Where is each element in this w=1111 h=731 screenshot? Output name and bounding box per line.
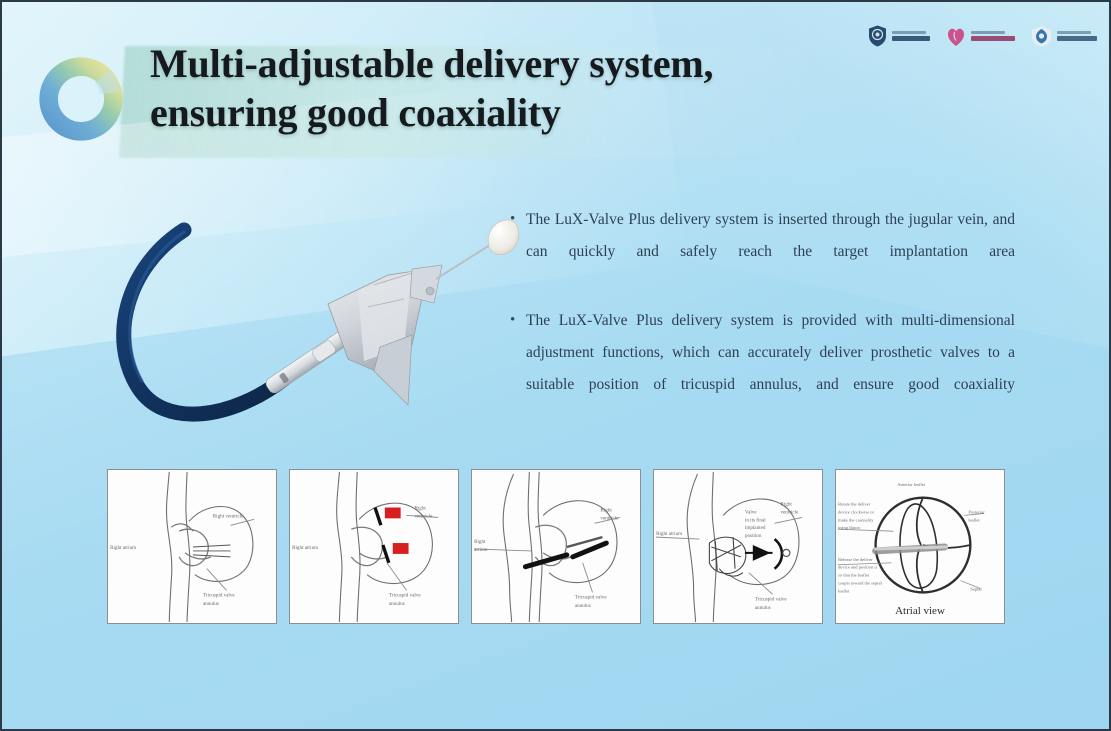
svg-text:device and position it: device and position it	[838, 565, 878, 570]
svg-text:leaflet: leaflet	[968, 517, 980, 522]
logo-wordmark	[1057, 31, 1097, 41]
svg-text:Right: Right	[600, 507, 612, 513]
svg-text:so that the leaflet: so that the leaflet	[838, 573, 870, 578]
step-1-access: Right ventricle Right atrium Tricuspid v…	[107, 469, 277, 624]
presentation-slide: Multi-adjustable delivery system, ensuri…	[0, 0, 1111, 731]
panel-caption: Atrial view	[836, 605, 1004, 617]
bullet-text: The LuX-Valve Plus delivery system is in…	[526, 204, 1015, 301]
svg-text:Right ventricle: Right ventricle	[213, 513, 244, 519]
svg-text:Septal: Septal	[970, 586, 982, 591]
fuwai-hospital-logo	[946, 25, 1015, 47]
logo-wordmark	[971, 31, 1015, 41]
svg-text:ventricle: ventricle	[600, 515, 619, 521]
step-5-atrial-view: Anterior leaflet Rotate the deliver devi…	[835, 469, 1005, 624]
svg-text:Anterior leaflet: Anterior leaflet	[897, 482, 926, 487]
svg-text:Right: Right	[474, 539, 486, 545]
bullet-text: The LuX-Valve Plus delivery system is pr…	[526, 305, 1015, 434]
crest-icon	[1031, 25, 1052, 47]
bullet-list: • The LuX-Valve Plus delivery system is …	[510, 204, 1015, 438]
title-line-2: ensuring good coaxiality	[150, 89, 910, 138]
svg-text:annulus: annulus	[389, 601, 405, 607]
svg-text:Rotate the deliver: Rotate the deliver	[838, 502, 871, 507]
svg-text:ventricle: ventricle	[780, 509, 799, 515]
svg-text:annulus: annulus	[203, 601, 219, 607]
svg-text:Tricuspid valve: Tricuspid valve	[203, 592, 236, 598]
svg-text:using fluoro: using fluoro	[838, 525, 861, 530]
svg-text:implanted: implanted	[745, 525, 766, 531]
svg-text:ventricle: ventricle	[414, 513, 433, 519]
title-line-1: Multi-adjustable delivery system,	[150, 40, 910, 89]
list-item: • The LuX-Valve Plus delivery system is …	[510, 305, 1015, 434]
svg-text:make the coaxiality: make the coaxiality	[838, 517, 874, 522]
svg-text:device clockwise or: device clockwise or	[838, 509, 874, 514]
procedure-step-panels: Right ventricle Right atrium Tricuspid v…	[107, 469, 1005, 624]
step-3-position: Right ventricle Right atrium Tricuspid v…	[471, 469, 641, 624]
page-title: Multi-adjustable delivery system, ensuri…	[150, 40, 910, 138]
svg-text:in its final: in its final	[745, 516, 766, 523]
svg-text:Right: Right	[414, 505, 426, 511]
svg-text:Right: Right	[780, 502, 792, 508]
svg-text:Right atrium: Right atrium	[656, 531, 682, 537]
svg-text:Release the deliver: Release the deliver	[838, 557, 873, 562]
step-4-release: Right ventricle Right atrium Valve in it…	[653, 469, 823, 624]
svg-text:Right atrium: Right atrium	[110, 545, 136, 551]
svg-text:Posterior: Posterior	[968, 509, 985, 514]
lux-valve-plus-delivery-system-photo	[112, 207, 522, 452]
svg-text:annulus: annulus	[755, 605, 771, 611]
partner-institution-logo	[1031, 25, 1097, 47]
heart-icon	[946, 25, 966, 47]
svg-text:Right atrium: Right atrium	[292, 545, 318, 551]
bullet-marker: •	[510, 305, 526, 336]
gradient-ring-logo	[32, 50, 130, 148]
svg-text:Valve: Valve	[745, 509, 757, 515]
svg-text:Tricuspid valve: Tricuspid valve	[575, 594, 608, 600]
svg-text:atrium: atrium	[474, 547, 487, 553]
list-item: • The LuX-Valve Plus delivery system is …	[510, 204, 1015, 301]
bullet-marker: •	[510, 204, 526, 235]
step-2-anchor-deploy: Right ventricle Right atrium Tricuspid v…	[289, 469, 459, 624]
svg-text:Tricuspid valve: Tricuspid valve	[755, 596, 788, 602]
svg-text:annulus: annulus	[575, 603, 591, 609]
svg-text:coapts toward the septal: coapts toward the septal	[838, 581, 882, 586]
svg-text:Tricuspid valve: Tricuspid valve	[389, 592, 422, 598]
svg-text:position: position	[745, 533, 762, 539]
svg-text:leaflet: leaflet	[838, 588, 850, 593]
